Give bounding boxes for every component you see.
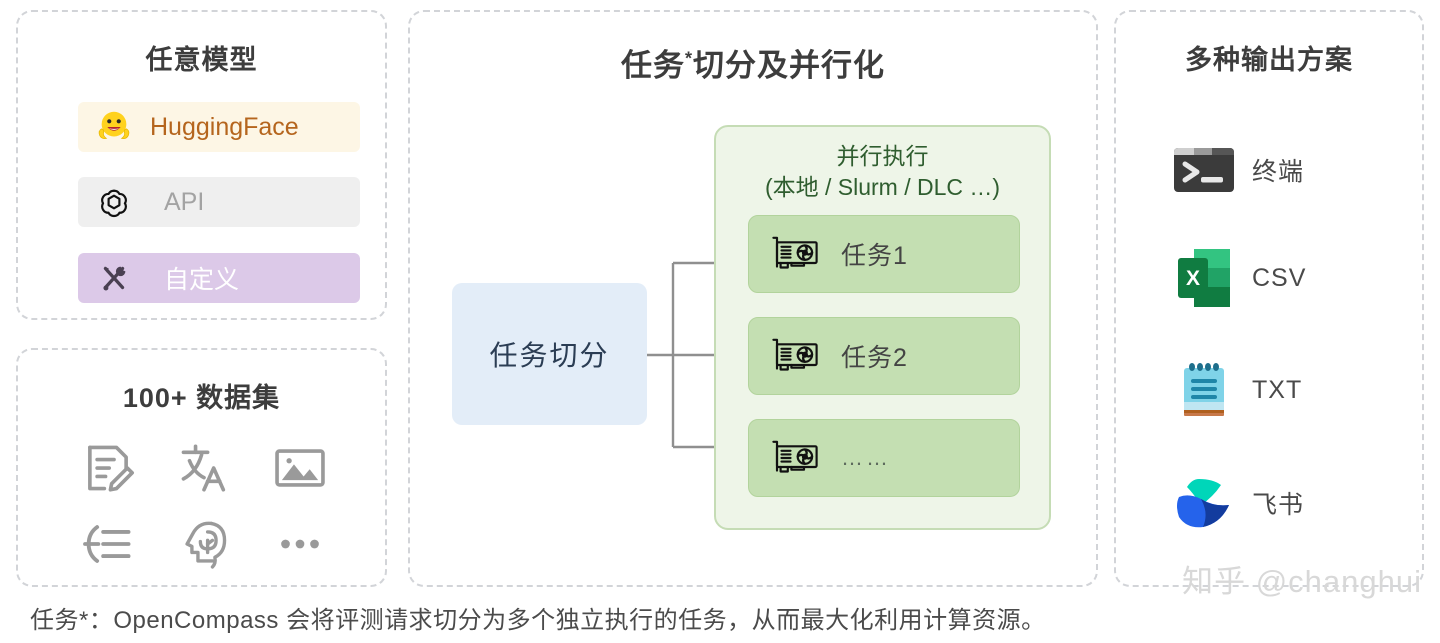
image-icon[interactable] [271,439,329,497]
datasets-panel-title: 100+ 数据集 [18,376,385,415]
model-option-api[interactable]: API [78,177,360,227]
notepad-icon [1156,360,1252,420]
hugging-face-icon [78,108,150,146]
svg-text:X: X [1186,267,1200,290]
gpu-card-icon [749,438,841,478]
translate-icon[interactable] [175,439,233,497]
datasets-panel: 100+ 数据集 [16,348,387,587]
feishu-logo-icon [1156,475,1252,531]
head-brain-icon[interactable] [175,515,233,573]
output-option-feishu[interactable]: 飞书 [1156,471,1396,535]
dataset-icon-grid [60,430,348,582]
task-row[interactable]: 任务1 [748,215,1020,293]
task-row[interactable]: …… [748,419,1020,497]
center-title-rest: 切分及并行化 [693,48,885,83]
model-option-label: API [150,188,204,217]
excel-icon: X [1156,247,1252,309]
parallel-execution-title-line2: (本地 / Slurm / DLC …) [716,172,1049,203]
model-option-huggingface[interactable]: HuggingFace [78,102,360,152]
diagram-root: 任意模型 HuggingFace [0,0,1440,643]
center-panel-title: 任务*切分及并行化 [410,40,1096,85]
document-pencil-icon[interactable] [79,439,137,497]
task-split-label: 任务切分 [489,334,609,374]
center-title-star: * [685,49,693,69]
models-panel-title: 任意模型 [18,38,385,77]
output-option-label: CSV [1252,264,1306,293]
models-panel: 任意模型 HuggingFace [16,10,387,320]
output-option-label: 飞书 [1252,485,1304,521]
task-split-box: 任务切分 [452,283,647,425]
task-label: 任务2 [841,338,908,374]
model-option-label: 自定义 [150,260,239,296]
output-option-txt[interactable]: TXT [1156,358,1396,422]
task-label: …… [841,445,891,471]
output-option-terminal[interactable]: 终端 [1156,138,1396,202]
watermark: 知乎 @changhui [1182,556,1422,601]
terminal-icon [1156,144,1252,196]
task-label: 任务1 [841,236,908,272]
center-title-main: 任务 [621,48,685,83]
code-branch-list-icon[interactable] [79,515,137,573]
openai-logo-icon [78,184,150,220]
gpu-card-icon [749,234,841,274]
output-option-label: TXT [1252,376,1302,405]
parallel-execution-title: 并行执行 (本地 / Slurm / DLC …) [716,141,1049,203]
outputs-panel: 多种输出方案 终端 [1114,10,1424,587]
model-option-label: HuggingFace [150,113,299,142]
parallel-execution-title-line1: 并行执行 [716,141,1049,172]
model-option-custom[interactable]: 自定义 [78,253,360,303]
footnote-caption: 任务*：OpenCompass 会将评测请求切分为多个独立执行的任务，从而最大化… [30,600,1046,635]
output-option-csv[interactable]: X CSV [1156,246,1396,310]
gpu-card-icon [749,336,841,376]
ellipsis-icon[interactable] [271,515,329,573]
output-option-label: 终端 [1252,152,1304,188]
wrench-screwdriver-icon [78,259,150,297]
outputs-panel-title: 多种输出方案 [1116,38,1422,77]
task-row[interactable]: 任务2 [748,317,1020,395]
parallel-execution-box: 并行执行 (本地 / Slurm / DLC …) 任务1 [714,125,1051,530]
